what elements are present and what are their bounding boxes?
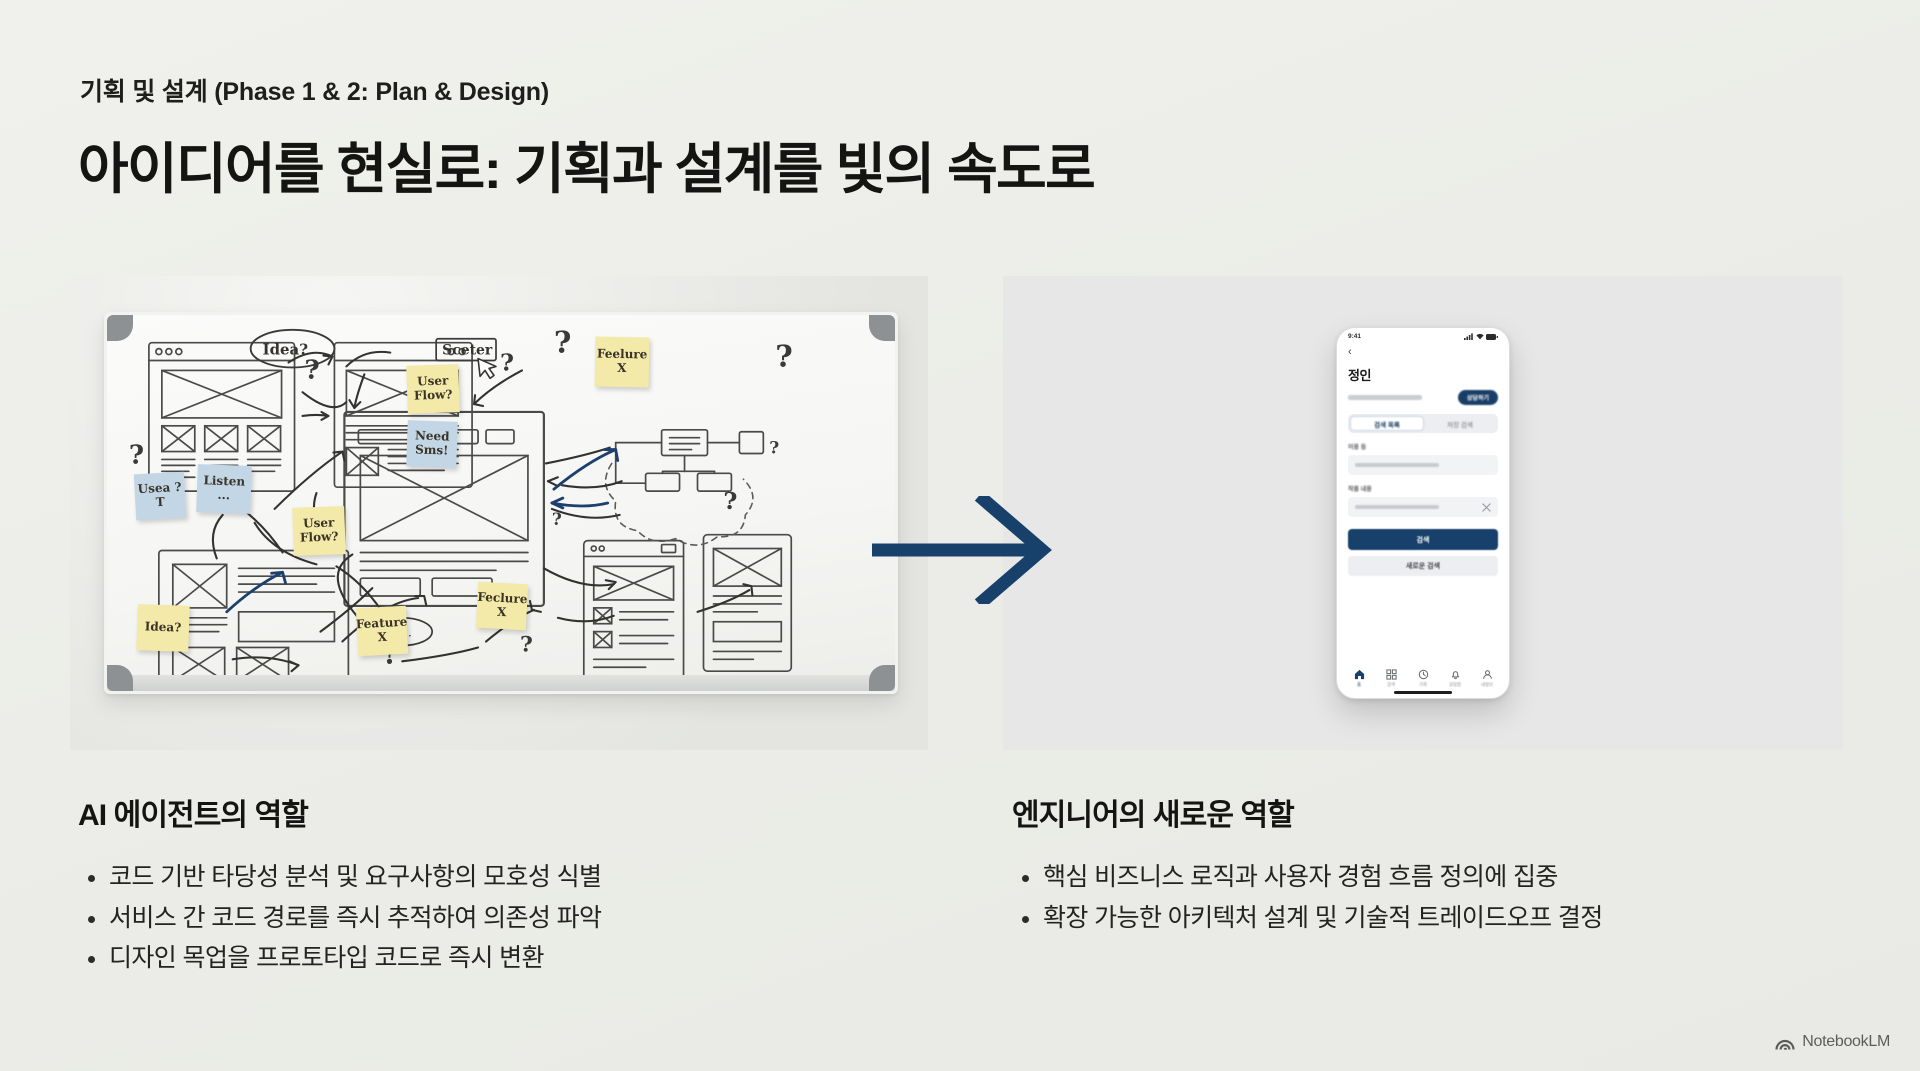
board-corner-icon [869,665,895,691]
phone-status-bar: 9:41 [1337,328,1509,345]
board-tray [107,675,895,691]
input-placeholder [1355,463,1439,467]
svg-text:?: ? [552,509,562,529]
tab-search-list[interactable]: 검색 목록 [1350,416,1424,431]
svg-text:?: ? [775,340,793,375]
tab-saved-search[interactable]: 저장 검색 [1424,416,1496,431]
sticky-note: Usea ?T [134,472,186,521]
nav-item-home[interactable]: 홈 [1344,669,1374,688]
whiteboard-scene: ? ? ? ? ? ? ? ? ? ? Scet [70,276,928,750]
svg-text:?: ? [723,487,737,515]
column-heading: 엔지니어의 새로운 역할 [1012,790,1892,834]
svg-text:Sceter: Sceter [442,343,493,359]
subtitle-text [1348,395,1422,400]
segmented-tabs[interactable]: 검색 목록 저장 검색 [1348,414,1498,433]
nav-item-alerts[interactable]: 알림함 [1440,669,1470,688]
svg-text:?: ? [500,348,514,376]
sticky-note: User Flow? [292,506,346,556]
svg-text:?: ? [304,355,319,385]
svg-text:?: ? [554,326,572,361]
notebooklm-arc-icon [1775,1033,1795,1051]
list-item: 확장 가능한 아키텍처 설계 및 기술적 트레이드오프 결정 [1012,898,1892,939]
sticky-note: Need Sms! [406,420,458,468]
sticky-note: Idea? [136,604,190,652]
bottom-nav[interactable]: 홈 검색 기록 [1337,669,1509,688]
status-time: 9:41 [1348,333,1361,340]
column-ai-agent: AI 에이전트의 역할 코드 기반 타당성 분석 및 요구사항의 모호성 식별 … [78,790,938,979]
mobile-mockup-panel: 9:41 ‹ [1003,276,1843,750]
svg-text:?: ? [129,441,144,471]
list-item: 코드 기반 타당성 분석 및 요구사항의 모호성 식별 [78,857,938,898]
nav-label: 홈 [1357,682,1361,688]
action-chip-button[interactable]: 상담하기 [1458,390,1498,405]
new-search-button[interactable]: 새로운 검색 [1348,556,1498,576]
bullet-list: 코드 기반 타당성 분석 및 요구사항의 모호성 식별 서비스 간 코드 경로를… [78,857,938,979]
svg-text:?: ? [520,632,533,658]
whiteboard-image-panel: ? ? ? ? ? ? ? ? ? ? Scet [70,276,928,750]
wifi-icon [1476,333,1484,340]
list-item: 서비스 간 코드 경로를 즉시 추적하여 의존성 파악 [78,898,938,939]
svg-text:?: ? [769,438,779,458]
subtitle-row: 상담하기 [1337,384,1509,405]
nav-label: 알림함 [1449,682,1461,688]
status-icons [1464,333,1498,340]
input-placeholder [1355,505,1439,509]
nav-label: 내정보 [1481,682,1493,688]
nav-label: 기록 [1419,682,1427,688]
search-submit-button[interactable]: 검색 [1348,529,1498,550]
right-arrow-icon [872,496,1062,604]
column-engineer: 엔지니어의 새로운 역할 핵심 비즈니스 로직과 사용자 경험 흐름 정의에 집… [1012,790,1892,938]
column-heading: AI 에이전트의 역할 [78,790,938,834]
nav-item-profile[interactable]: 내정보 [1472,669,1502,688]
grid-icon [1386,669,1397,680]
brand-name: NotebookLM [1802,1033,1890,1051]
signal-icon [1464,333,1473,340]
whiteboard: ? ? ? ? ? ? ? ? ? ? Scet [104,312,898,694]
sticky-note: Feclure X [476,582,528,631]
list-item: 디자인 목업을 프로토타입 코드로 즉시 변환 [78,938,938,979]
slide-root: 기획 및 설계 (Phase 1 & 2: Plan & Design) 아이디… [0,0,1920,1071]
nav-label: 검색 [1387,682,1395,688]
list-item: 핵심 비즈니스 로직과 사용자 경험 흐름 정의에 집중 [1012,857,1892,898]
search-input-1[interactable] [1348,455,1498,475]
home-indicator [1394,691,1452,694]
bullet-list: 핵심 비즈니스 로직과 사용자 경험 흐름 정의에 집중 확장 가능한 아키텍처… [1012,857,1892,938]
phone-mockup: 9:41 ‹ [1336,327,1510,699]
back-button[interactable]: ‹ [1337,345,1509,358]
svg-text:Idea?: Idea? [263,341,309,359]
page-title: 아이디어를 현실로: 기획과 설계를 빛의 속도로 [78,124,1094,204]
bell-icon [1450,669,1461,680]
field-label: 작품 내용 [1348,484,1498,493]
battery-icon [1486,334,1498,340]
notebooklm-brand: NotebookLM [1775,1033,1890,1051]
user-icon [1482,669,1493,680]
field-label: 이용 등 [1348,442,1498,451]
nav-item-search[interactable]: 검색 [1376,669,1406,688]
screen-title: 정인 [1337,358,1509,384]
clear-icon[interactable] [1482,503,1491,512]
sticky-note: Listen ... [196,464,252,514]
nav-item-history[interactable]: 기록 [1408,669,1438,688]
search-input-2[interactable] [1348,497,1498,517]
clock-icon [1418,669,1429,680]
sticky-note: User Flow? [406,364,460,414]
slide-eyebrow: 기획 및 설계 (Phase 1 & 2: Plan & Design) [80,72,549,108]
sticky-note: Feature X [356,606,408,657]
home-icon [1354,669,1365,680]
sticky-note: Feelure X [595,337,650,388]
